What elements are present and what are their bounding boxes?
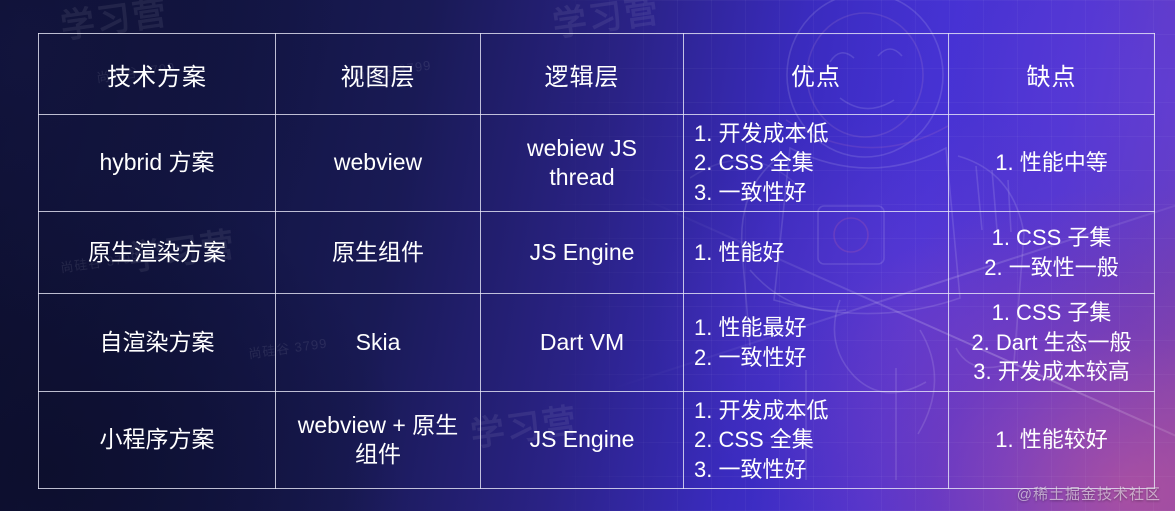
column-header-logic-layer: 逻辑层 — [481, 34, 684, 115]
cell-logic-layer: webiew JSthread — [481, 115, 684, 212]
text-line: webiew JS — [491, 134, 673, 163]
text-line: 2. CSS 全集 — [694, 148, 938, 177]
cell-solution: 原生渲染方案 — [39, 212, 276, 294]
text-line: 2. 一致性好 — [694, 343, 938, 372]
cell-pros: 1. 性能好 — [684, 212, 949, 294]
cell-pros: 1. 开发成本低2. CSS 全集3. 一致性好 — [684, 391, 949, 488]
cell-view-layer: Skia — [276, 294, 481, 391]
text-line: 2. CSS 全集 — [694, 425, 938, 454]
text-line: 组件 — [286, 440, 470, 469]
text-line: 1. 性能好 — [694, 238, 938, 267]
logic-layer-lines: JS Engine — [491, 425, 673, 454]
view-layer-lines: webview + 原生组件 — [286, 411, 470, 470]
text-line: 1. 性能最好 — [694, 313, 938, 342]
pros-lines: 1. 开发成本低2. CSS 全集3. 一致性好 — [694, 396, 938, 484]
column-header-view-layer: 视图层 — [276, 34, 481, 115]
text-line: 1. CSS 子集 — [959, 223, 1144, 252]
table-row: 原生渲染方案 原生组件 JS Engine 1. 性能好 1. CSS 子集2.… — [39, 212, 1155, 294]
column-header-cons: 缺点 — [949, 34, 1155, 115]
logic-layer-lines: JS Engine — [491, 238, 673, 267]
cell-cons: 1. 性能中等 — [949, 115, 1155, 212]
cell-cons: 1. CSS 子集2. 一致性一般 — [949, 212, 1155, 294]
table-row: 自渲染方案 Skia Dart VM 1. 性能最好2. 一致性好 1. CSS… — [39, 294, 1155, 391]
text-line: 1. 开发成本低 — [694, 396, 938, 425]
corner-watermark: @稀土掘金技术社区 — [1017, 483, 1161, 504]
pros-lines: 1. 性能好 — [694, 238, 938, 267]
text-line: webview + 原生 — [286, 411, 470, 440]
slide-canvas: 学习营 学习营 学习营 学习营 尚硅谷 3799 尚硅谷 3799 尚硅谷 37… — [0, 0, 1175, 511]
text-line: 3. 开发成本较高 — [959, 357, 1144, 386]
text-line: 3. 一致性好 — [694, 455, 938, 484]
logic-layer-lines: Dart VM — [491, 328, 673, 357]
table-row: 小程序方案 webview + 原生组件 JS Engine 1. 开发成本低2… — [39, 391, 1155, 488]
text-line: 2. Dart 生态一般 — [959, 328, 1144, 357]
text-line: 1. CSS 子集 — [959, 298, 1144, 327]
cell-view-layer: 原生组件 — [276, 212, 481, 294]
column-header-pros: 优点 — [684, 34, 949, 115]
cell-cons: 1. CSS 子集2. Dart 生态一般3. 开发成本较高 — [949, 294, 1155, 391]
cell-cons: 1. 性能较好 — [949, 391, 1155, 488]
cell-logic-layer: JS Engine — [481, 212, 684, 294]
cell-view-layer: webview — [276, 115, 481, 212]
text-line: 1. 性能中等 — [959, 148, 1144, 177]
text-line: 1. 开发成本低 — [694, 119, 938, 148]
cell-pros: 1. 开发成本低2. CSS 全集3. 一致性好 — [684, 115, 949, 212]
cons-lines: 1. CSS 子集2. 一致性一般 — [959, 223, 1144, 282]
text-line: 3. 一致性好 — [694, 178, 938, 207]
cell-view-layer: webview + 原生组件 — [276, 391, 481, 488]
cell-logic-layer: JS Engine — [481, 391, 684, 488]
table-header-row: 技术方案 视图层 逻辑层 优点 缺点 — [39, 34, 1155, 115]
cell-solution: 自渲染方案 — [39, 294, 276, 391]
cell-solution: 小程序方案 — [39, 391, 276, 488]
cons-lines: 1. 性能中等 — [959, 148, 1144, 177]
text-line: JS Engine — [491, 238, 673, 267]
pros-lines: 1. 性能最好2. 一致性好 — [694, 313, 938, 372]
column-header-solution: 技术方案 — [39, 34, 276, 115]
cons-lines: 1. CSS 子集2. Dart 生态一般3. 开发成本较高 — [959, 298, 1144, 386]
comparison-table: 技术方案 视图层 逻辑层 优点 缺点 hybrid 方案 webview web… — [38, 33, 1155, 489]
logic-layer-lines: webiew JSthread — [491, 134, 673, 193]
pros-lines: 1. 开发成本低2. CSS 全集3. 一致性好 — [694, 119, 938, 207]
text-line: 2. 一致性一般 — [959, 253, 1144, 282]
text-line: 1. 性能较好 — [959, 425, 1144, 454]
table-row: hybrid 方案 webview webiew JSthread 1. 开发成… — [39, 115, 1155, 212]
cons-lines: 1. 性能较好 — [959, 425, 1144, 454]
cell-logic-layer: Dart VM — [481, 294, 684, 391]
cell-pros: 1. 性能最好2. 一致性好 — [684, 294, 949, 391]
text-line: thread — [491, 163, 673, 192]
text-line: JS Engine — [491, 425, 673, 454]
cell-solution: hybrid 方案 — [39, 115, 276, 212]
text-line: Dart VM — [491, 328, 673, 357]
